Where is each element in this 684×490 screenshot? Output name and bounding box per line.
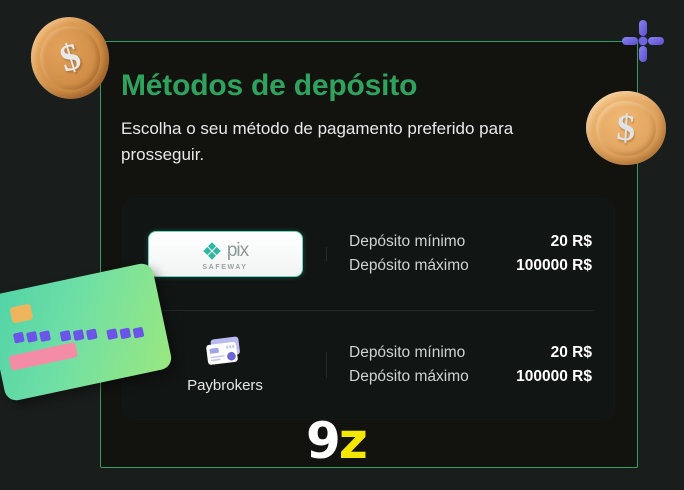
payment-methods-list: pix SAFEWAY Depósito mínimo 20 R$ Depósi…	[122, 198, 615, 420]
pix-logo-cell: pix SAFEWAY	[123, 231, 327, 277]
dollar-sign-left: $	[55, 37, 84, 79]
limit-label-min: Depósito mínimo	[349, 233, 465, 251]
payment-method-paybrokers[interactable]: Paybrokers Depósito mínimo 20 R$ Depósit…	[123, 309, 614, 419]
limit-value-max: 100000 R$	[516, 257, 592, 275]
payment-method-pix-safeway[interactable]: pix SAFEWAY Depósito mínimo 20 R$ Depósi…	[123, 199, 614, 309]
limit-value-min: 20 R$	[551, 233, 592, 251]
pix-logo-row: pix	[202, 240, 248, 262]
pix-safeway-logo-tile[interactable]: pix SAFEWAY	[148, 231, 303, 277]
pix-safeway-label: SAFEWAY	[202, 264, 247, 271]
limit-label-min: Depósito mínimo	[349, 344, 465, 362]
page-subtitle: Escolha o seu método de pagamento prefer…	[121, 116, 561, 169]
paybrokers-label: Paybrokers	[187, 377, 263, 394]
limit-label-max: Depósito máximo	[349, 257, 469, 275]
limit-value-max: 100000 R$	[516, 368, 592, 386]
limit-row-max: Depósito máximo 100000 R$	[349, 257, 592, 275]
limit-row-min: Depósito mínimo 20 R$	[349, 233, 592, 251]
paybrokers-limits: Depósito mínimo 20 R$ Depósito máximo 10…	[327, 338, 614, 392]
limit-value-min: 20 R$	[551, 344, 592, 362]
card-stripe	[8, 342, 78, 371]
pix-diamond-icon	[202, 241, 222, 261]
limit-label-max: Depósito máximo	[349, 368, 469, 386]
paybrokers-logo-wrap[interactable]: Paybrokers	[187, 336, 263, 394]
limit-row-min: Depósito mínimo 20 R$	[349, 344, 592, 362]
page-title: Métodos de depósito	[121, 69, 617, 102]
limit-row-max: Depósito máximo 100000 R$	[349, 368, 592, 386]
panel-header: Métodos de depósito Escolha o seu método…	[121, 69, 617, 169]
pix-limits: Depósito mínimo 20 R$ Depósito máximo 10…	[327, 227, 614, 281]
credit-card-icon	[203, 336, 247, 370]
paybrokers-logo-cell: Paybrokers	[123, 336, 327, 394]
card-chip	[9, 304, 33, 324]
pix-wordmark: pix	[227, 241, 248, 260]
